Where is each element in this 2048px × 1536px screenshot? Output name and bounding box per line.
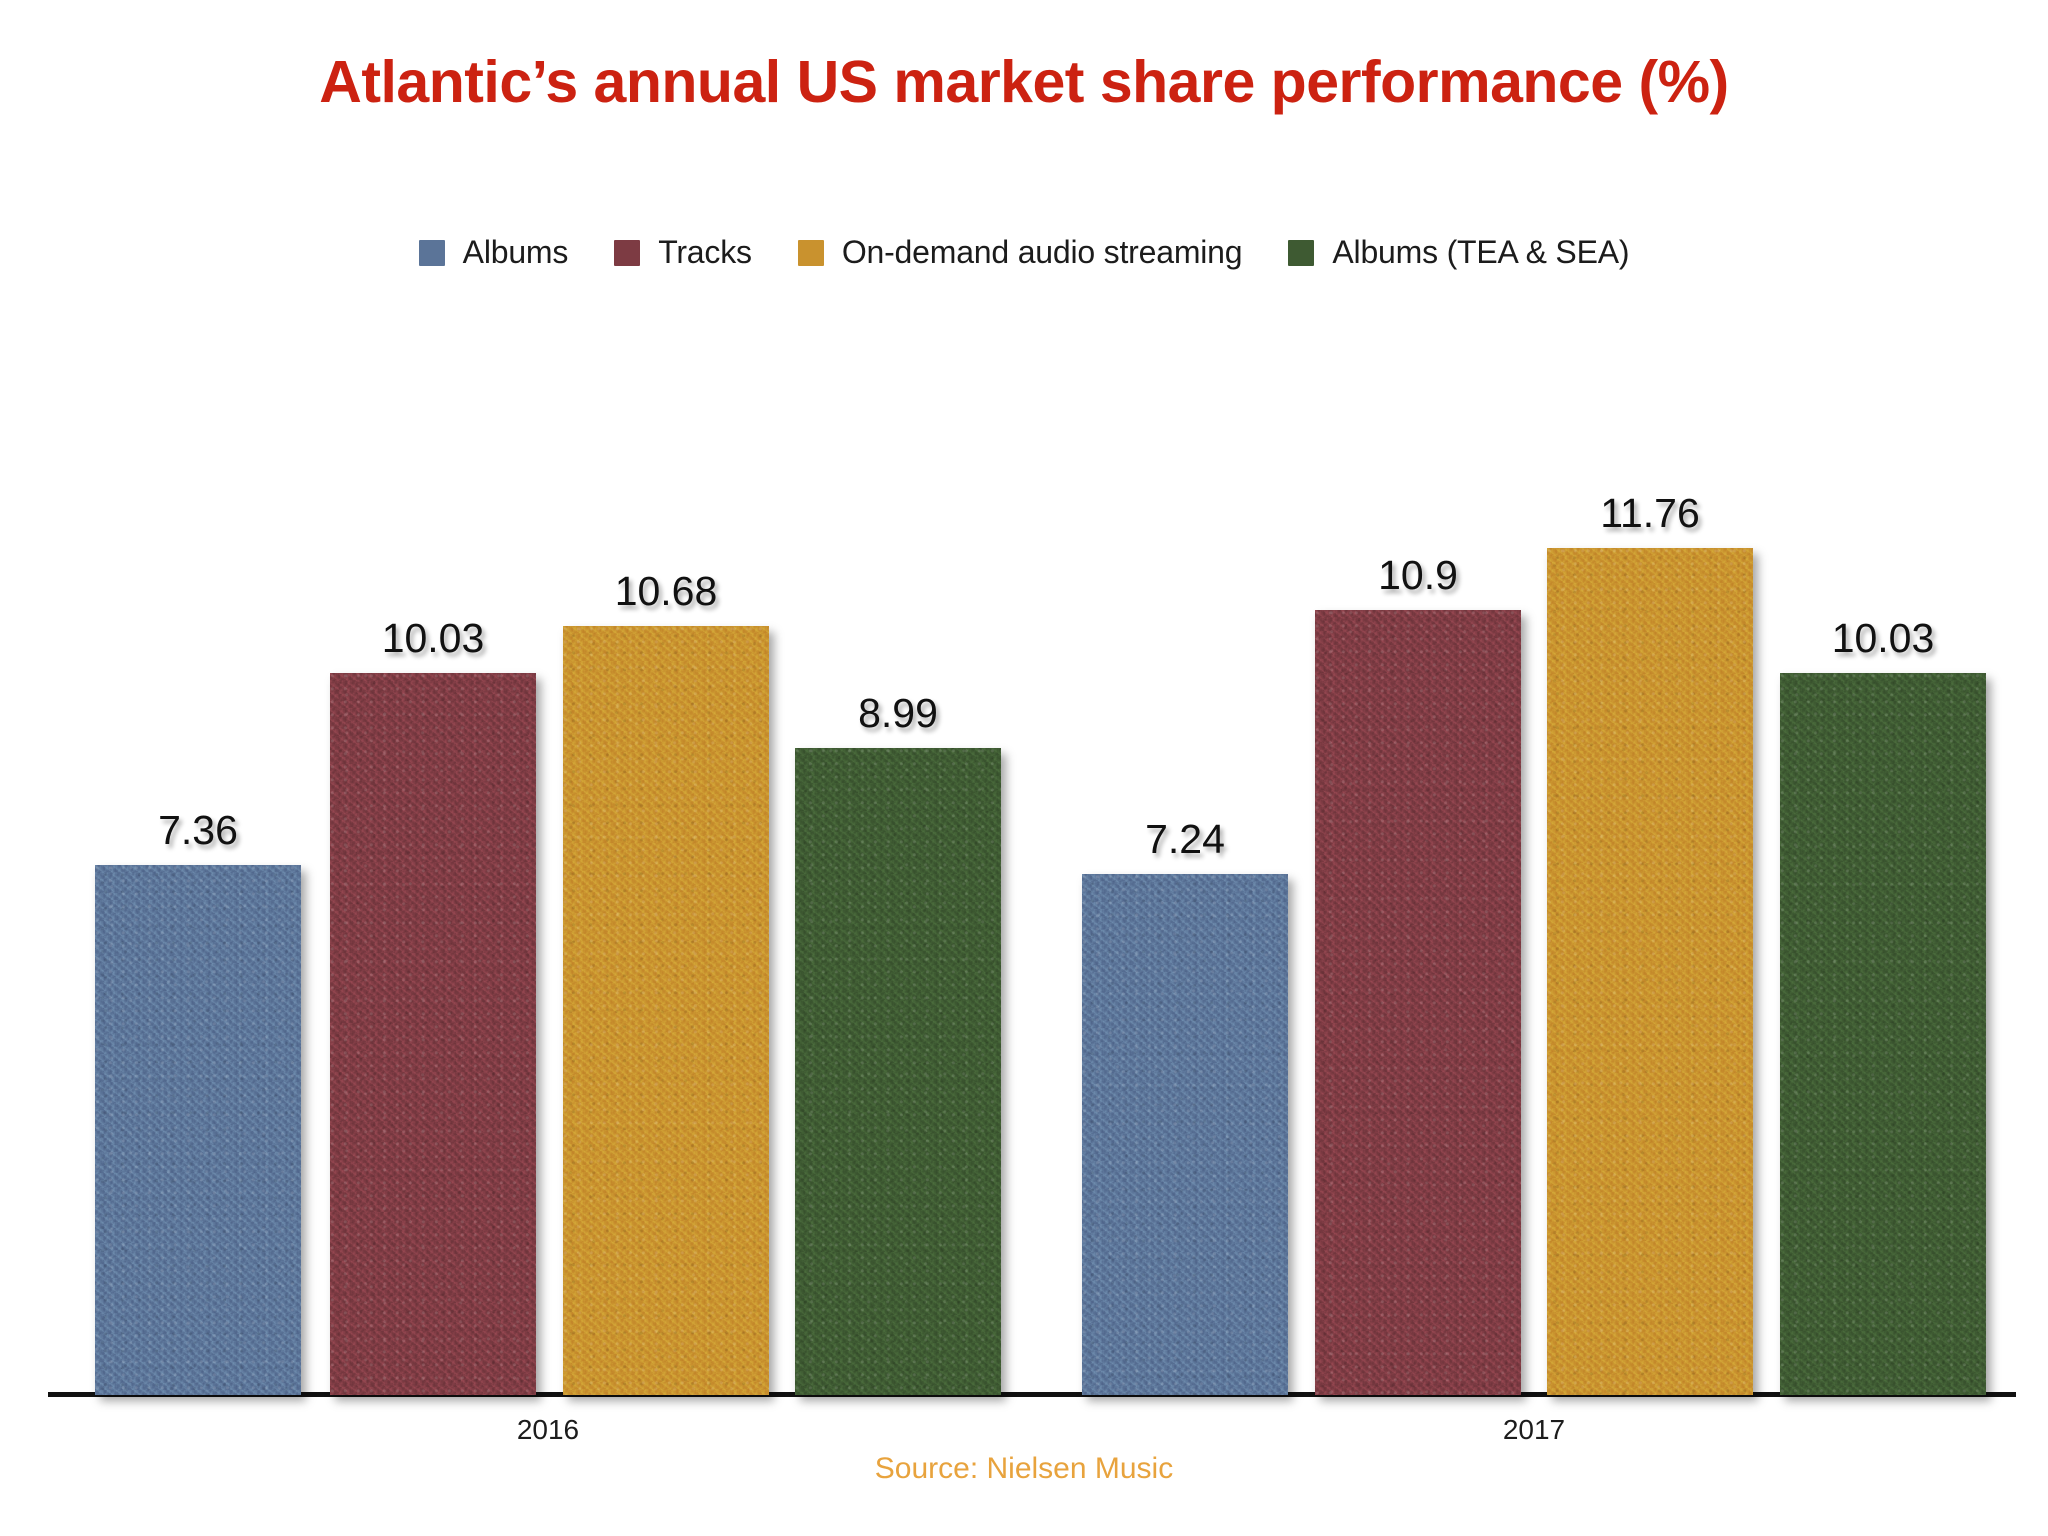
bar-value-label: 11.76 [1547,490,1753,537]
bar-speckle-overlay [330,673,536,1395]
bar[interactable] [95,865,301,1395]
bar-value-label: 10.03 [1780,615,1986,662]
bar-value-label: 10.9 [1315,552,1521,599]
x-axis-group-label: 2017 [1434,1414,1634,1446]
bar[interactable] [1547,548,1753,1395]
bar-speckle-overlay [1547,548,1753,1395]
bar-value-label: 7.36 [95,807,301,854]
bar[interactable] [1780,673,1986,1395]
bar-value-label: 8.99 [795,690,1001,737]
bar[interactable] [1315,610,1521,1395]
bar-speckle-overlay [1082,874,1288,1395]
source-note: Source: Nielsen Music [0,1452,2048,1486]
bar-value-label: 10.03 [330,615,536,662]
bar-chart-plot-area: 7.3610.0310.688.997.2410.911.7610.032016… [0,0,2048,1536]
bar[interactable] [330,673,536,1395]
bar-speckle-overlay [95,865,301,1395]
bar-speckle-overlay [1315,610,1521,1395]
bar-value-label: 7.24 [1082,816,1288,863]
bar[interactable] [563,626,769,1395]
bar-value-label: 10.68 [563,568,769,615]
bar-speckle-overlay [795,748,1001,1395]
bar-speckle-overlay [563,626,769,1395]
x-axis-group-label: 2016 [448,1414,648,1446]
bar[interactable] [795,748,1001,1395]
bar-speckle-overlay [1780,673,1986,1395]
bar[interactable] [1082,874,1288,1395]
